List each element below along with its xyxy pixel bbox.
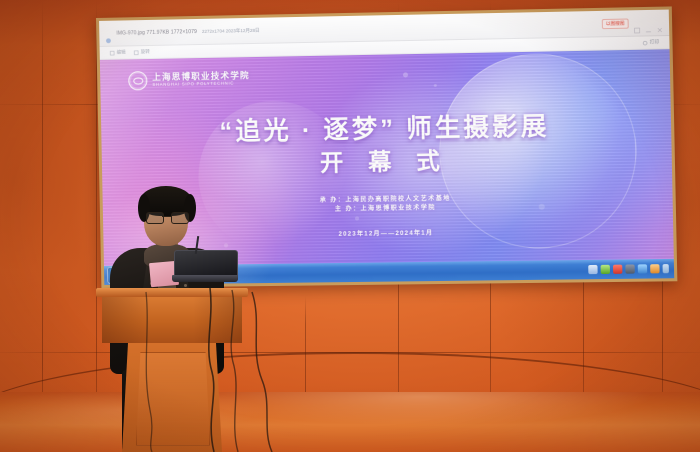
image-search-button[interactable]: 以图搜图 [602,18,629,29]
network-icon[interactable] [625,264,634,273]
close-icon[interactable] [657,19,663,25]
taskbar-spacer [196,270,585,275]
minimize-icon[interactable] [645,20,651,26]
show-desktop-icon[interactable] [663,264,669,273]
eyeglasses-icon [146,212,187,222]
viewer-file-label: IMG-970.jpg 771.97KB 1772×1079 [116,29,197,37]
menu-item-2-label: 打印 [650,39,659,45]
menu-item-2[interactable]: 打印 [642,39,659,45]
antivirus-shield-icon[interactable] [601,265,610,274]
laptop [172,250,238,284]
laptop-base [172,275,238,282]
security-icon[interactable] [650,264,659,273]
menu-item-0-label: 编辑 [117,49,126,55]
toolbar-spacer [265,24,597,31]
system-tray[interactable] [588,264,671,274]
podium-panel-inset [136,352,210,446]
keyboard-ime-icon[interactable] [588,265,597,274]
institution-name-cn: 上海思博职业技术学院 [152,72,250,82]
viewer-dimensions-label: 2272x1704 2023年12月28日 [202,27,260,34]
poster-institution-logo: 上海思博职业技术学院 SHANGHAI SIPO POLYTECHNIC [128,69,250,90]
menu-item-1[interactable]: 旋转 [134,49,150,55]
institution-name-en: SHANGHAI SIPO POLYTECHNIC [152,82,250,88]
volume-icon[interactable] [638,264,647,273]
app-logo-icon [105,30,111,36]
podium-front-shading [102,297,242,343]
university-seal-icon [128,71,147,90]
fit-screen-icon[interactable] [634,20,640,26]
laptop-lid [174,250,238,278]
podium [96,288,248,452]
pdf-reader-icon[interactable] [613,265,622,274]
menu-item-0[interactable]: 编辑 [110,49,126,55]
menu-item-1-label: 旋转 [141,49,150,55]
podium-top [96,288,248,297]
photo-scene: IMG-970.jpg 771.97KB 1772×1079 2272x1704… [0,0,700,452]
